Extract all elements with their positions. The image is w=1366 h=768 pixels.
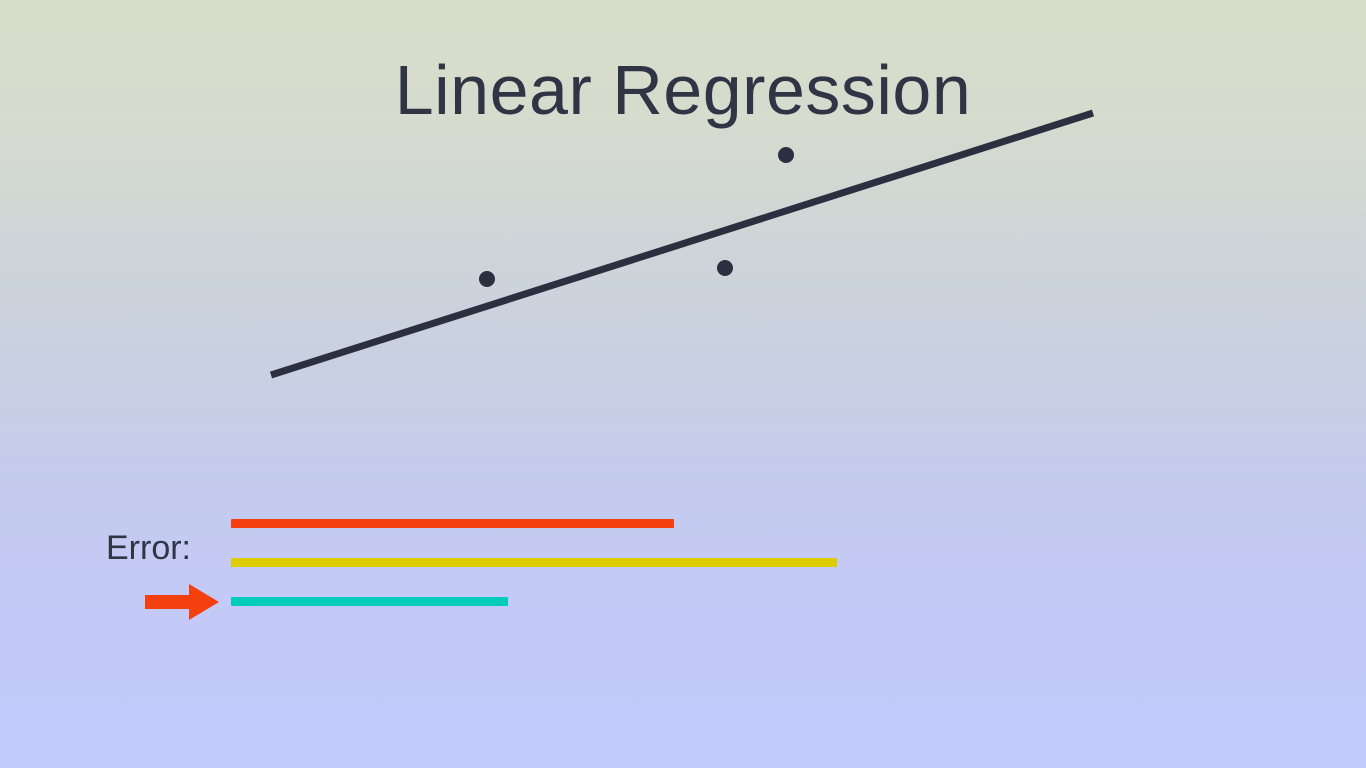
error-bar-teal <box>231 597 508 606</box>
data-point <box>717 260 733 276</box>
slide-canvas: Linear Regression Error: <box>0 0 1366 768</box>
error-legend-label: Error: <box>106 528 191 568</box>
page-title: Linear Regression <box>0 48 1366 132</box>
data-point <box>778 147 794 163</box>
data-point <box>479 271 495 287</box>
right-arrow-icon <box>145 584 219 620</box>
error-bar-red <box>231 519 674 528</box>
regression-line <box>271 113 1093 375</box>
error-bar-yellow <box>231 558 837 567</box>
